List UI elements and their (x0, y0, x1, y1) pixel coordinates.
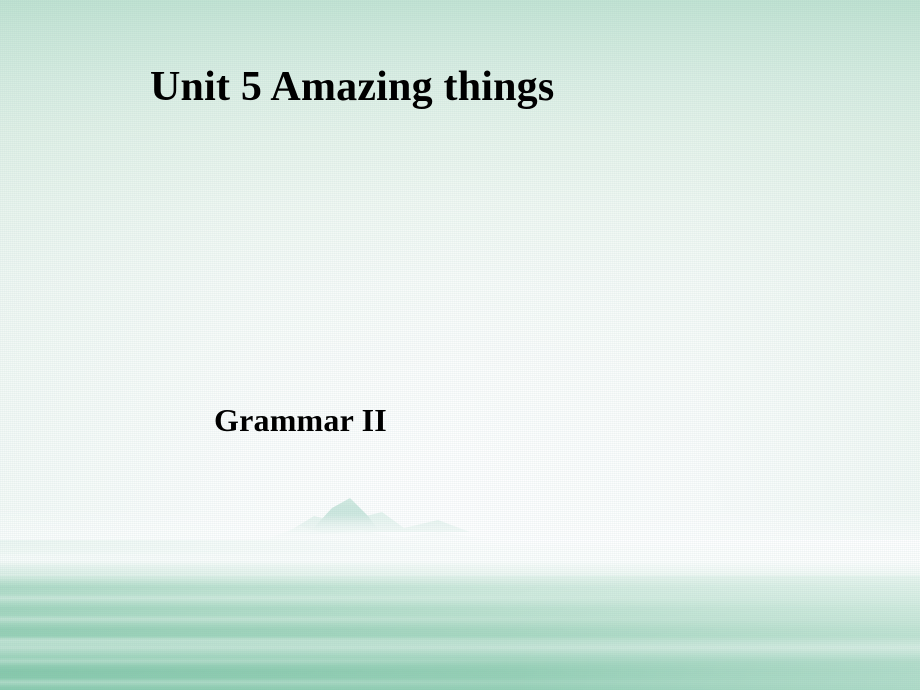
slide-title: Unit 5 Amazing things (150, 62, 554, 112)
presentation-slide: Unit 5 Amazing things Grammar II (0, 0, 920, 690)
slide-text-layer: Unit 5 Amazing things Grammar II (0, 0, 920, 690)
slide-subtitle: Grammar II (214, 401, 387, 439)
